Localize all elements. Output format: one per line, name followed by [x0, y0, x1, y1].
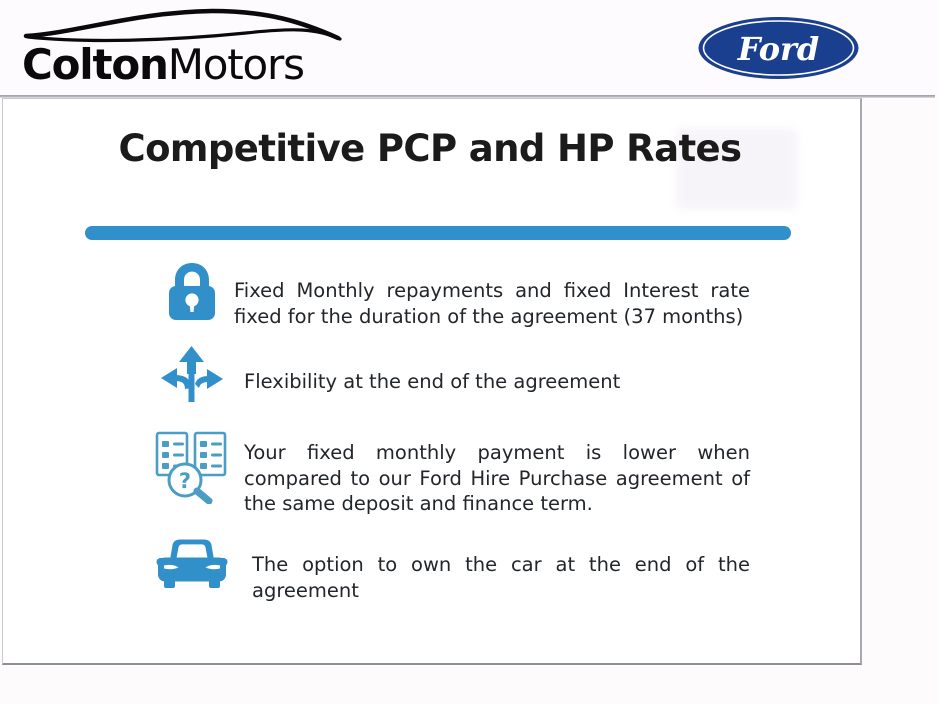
list-item-label: Flexibility at the end of the agreement [234, 344, 750, 395]
slide-root: ColtonMotors Ford Competitive PCP and HP… [0, 0, 938, 704]
list-item: The option to own the car at the end of … [150, 532, 750, 612]
list-item: Fixed Monthly repayments and fixed Inter… [150, 258, 750, 344]
brand-name-light: Motors [168, 40, 304, 89]
ford-oval-logo[interactable]: Ford [697, 16, 860, 80]
brand-name-bold: Colton [22, 40, 168, 89]
compare-documents-magnifier-icon: ? [154, 430, 230, 504]
svg-text:?: ? [179, 469, 191, 493]
benefits-list: Fixed Monthly repayments and fixed Inter… [150, 258, 750, 612]
list-item: ? Your fixed monthly payment is lower wh… [150, 426, 750, 532]
page-title: Competitive PCP and HP Rates [60, 124, 800, 174]
colton-motors-logo[interactable]: ColtonMotors [16, 6, 356, 92]
list-item-label: Fixed Monthly repayments and fixed Inter… [234, 258, 750, 329]
lock-icon [163, 260, 221, 322]
bullet-icon-slot [150, 344, 234, 406]
list-item: Flexibility at the end of the agreement [150, 344, 750, 426]
list-item-label: The option to own the car at the end of … [234, 532, 750, 603]
brand-wordmark: ColtonMotors [22, 40, 356, 90]
bullet-icon-slot [150, 532, 234, 592]
bullet-icon-slot [150, 258, 234, 322]
bullet-icon-slot: ? [150, 426, 234, 504]
ford-wordmark: Ford [737, 30, 820, 68]
three-way-arrows-icon [159, 344, 225, 406]
title-accent-bar [85, 226, 791, 240]
list-item-label: Your fixed monthly payment is lower when… [234, 426, 750, 517]
header-bar: ColtonMotors Ford [0, 0, 938, 96]
car-front-icon [156, 538, 228, 592]
